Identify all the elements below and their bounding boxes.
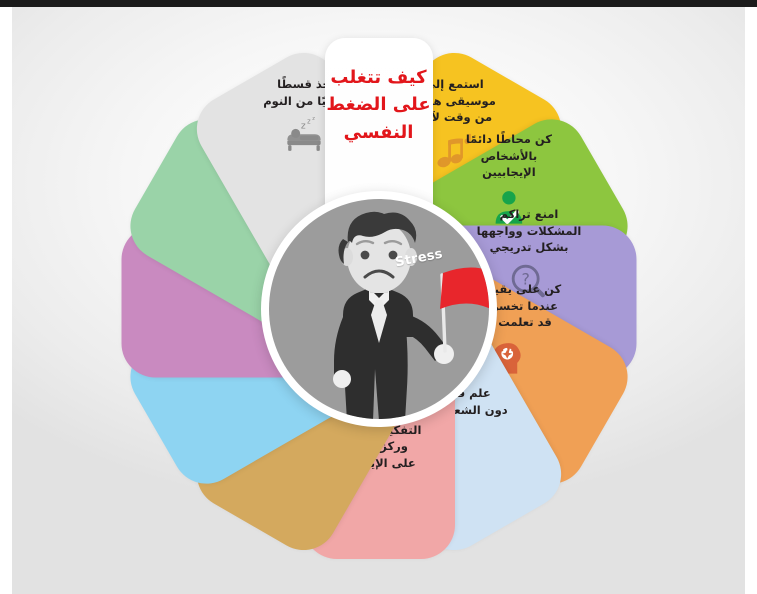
infographic-canvas: استمع إلى موسيقى هادئة من وقت لآخركن محا… — [12, 7, 745, 594]
bed-sleep-icon: zzz — [284, 115, 324, 155]
petal-text-positive-people: كن محاطًا دائمًا بالأشخاص الإيجابيين — [453, 131, 563, 181]
center-circle: Stress — [269, 199, 489, 419]
svg-text:z: z — [307, 117, 311, 125]
stressed-businessman-illustration — [269, 199, 489, 419]
center-circle-ring: Stress — [261, 191, 497, 427]
browser-top-bar — [0, 0, 757, 7]
svg-text:z: z — [300, 120, 305, 131]
page-title: كيف تتغلب على الضغط النفسي — [326, 64, 430, 148]
screenshot-root: استمع إلى موسيقى هادئة من وقت لآخركن محا… — [0, 0, 757, 594]
svg-text:z: z — [312, 116, 315, 122]
